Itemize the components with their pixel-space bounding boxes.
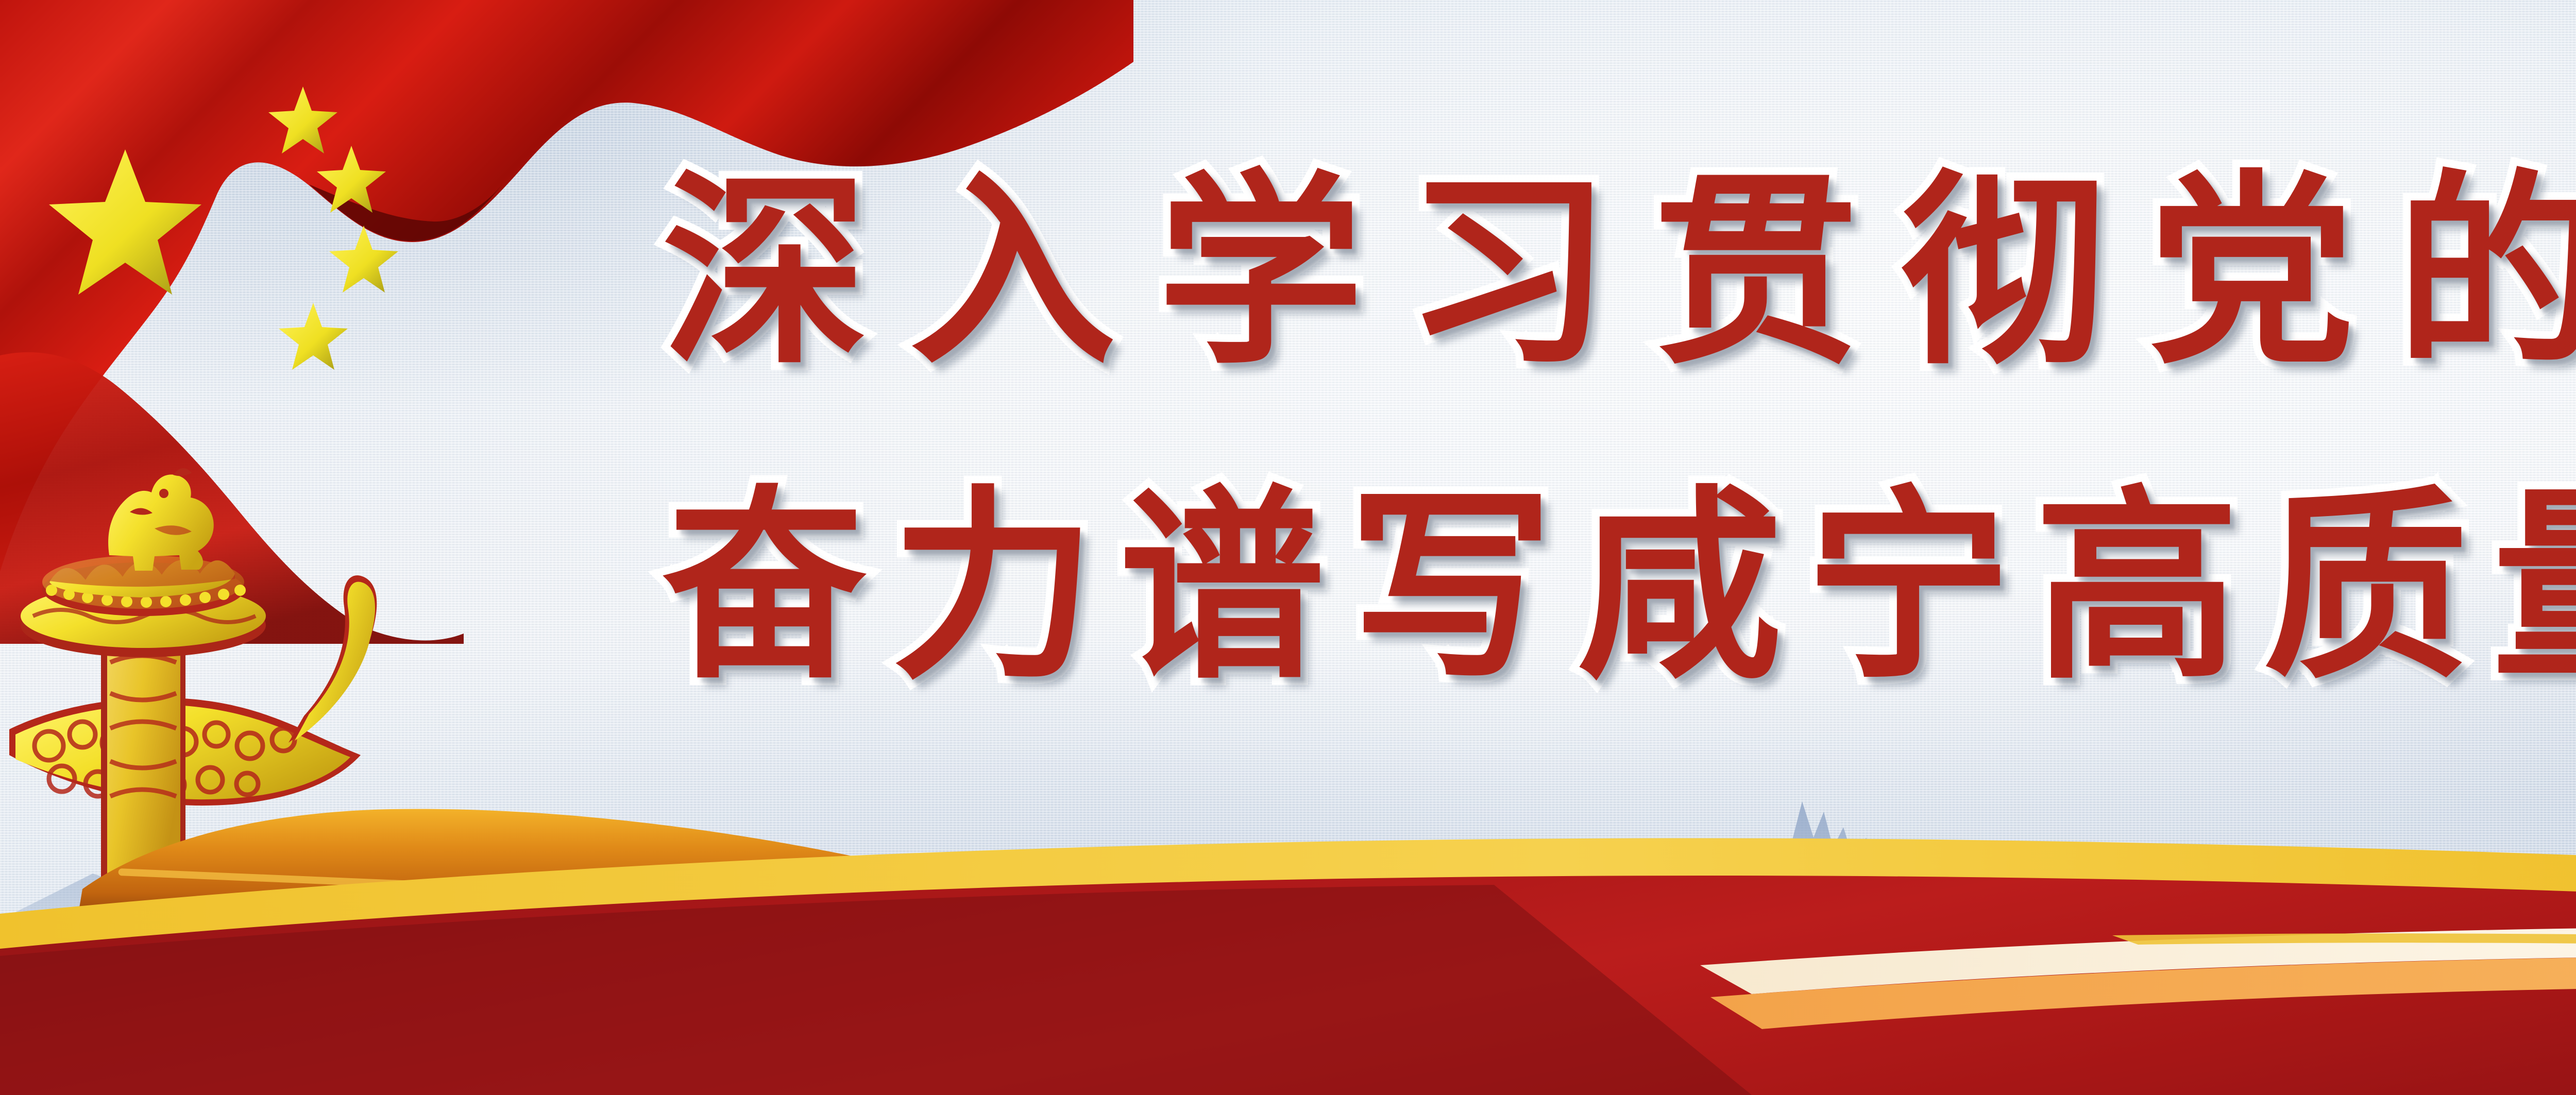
bottom-ribbon-band (0, 827, 2576, 1095)
propaganda-banner: 中华人民共和国万岁 (0, 0, 2576, 1095)
